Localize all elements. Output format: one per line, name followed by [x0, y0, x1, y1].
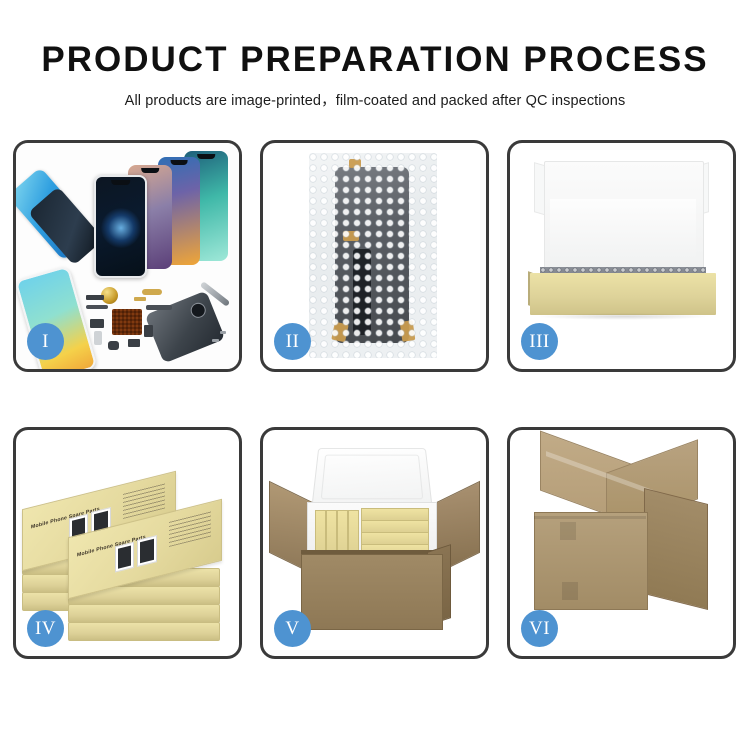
process-step-panel-3[interactable]: III — [507, 140, 736, 372]
process-step-panel-5[interactable]: V — [260, 427, 489, 659]
process-step-panel-2[interactable]: II — [260, 140, 489, 372]
gold-connector-1 — [142, 289, 162, 295]
spare-part-block — [90, 319, 104, 328]
bubble-wrap-bag — [309, 153, 437, 358]
yellow-box-body — [530, 273, 716, 315]
spare-part-bar — [86, 295, 104, 300]
foam-cooler-lid — [311, 448, 432, 508]
step-badge-6: VI — [521, 610, 558, 647]
carton-front — [301, 554, 443, 630]
page-title: PRODUCT PREPARATION PROCESS — [0, 0, 750, 79]
header: PRODUCT PREPARATION PROCESS All products… — [0, 0, 750, 110]
step-badge-2: II — [274, 323, 311, 360]
carton-front-seam — [534, 516, 646, 519]
step-badge-3: III — [521, 323, 558, 360]
product-preparation-infographic: PRODUCT PREPARATION PROCESS All products… — [0, 0, 750, 750]
process-step-grid: I II — [13, 140, 737, 692]
process-step-panel-1[interactable]: I — [13, 140, 242, 372]
foam-sheet — [550, 199, 696, 277]
spare-part-speaker — [108, 341, 119, 350]
sim-tray — [94, 331, 102, 345]
carton-tab-upper — [560, 522, 576, 540]
box-label-back: Mobile Phone Spare Parts — [31, 506, 100, 530]
step-badge-4: IV — [27, 610, 64, 647]
spare-part-camera — [128, 339, 140, 347]
carton-tab-lower — [562, 582, 578, 600]
step-badge-5: V — [274, 610, 311, 647]
screw-2 — [220, 331, 226, 334]
spare-part-button — [144, 325, 153, 337]
gold-connector-2 — [134, 297, 146, 301]
page-subtitle: All products are image-printed，film-coat… — [0, 79, 750, 110]
flex-cable-1 — [86, 305, 108, 309]
bubble-texture — [309, 153, 437, 358]
carton-side-face — [644, 488, 708, 610]
step-badge-1: I — [27, 323, 64, 360]
process-step-panel-4[interactable]: Mobile Phone Spare Parts Mobile Phone Sp… — [13, 427, 242, 659]
box-shadow — [536, 313, 710, 320]
box-label-front: Mobile Phone Spare Parts — [77, 534, 146, 558]
carton-front-face — [534, 512, 648, 610]
screw-1 — [212, 339, 219, 342]
phone-black-display — [94, 175, 147, 278]
logic-board-part — [112, 309, 142, 335]
process-step-panel-6[interactable]: VI — [507, 427, 736, 659]
flex-cable-2 — [146, 305, 172, 310]
